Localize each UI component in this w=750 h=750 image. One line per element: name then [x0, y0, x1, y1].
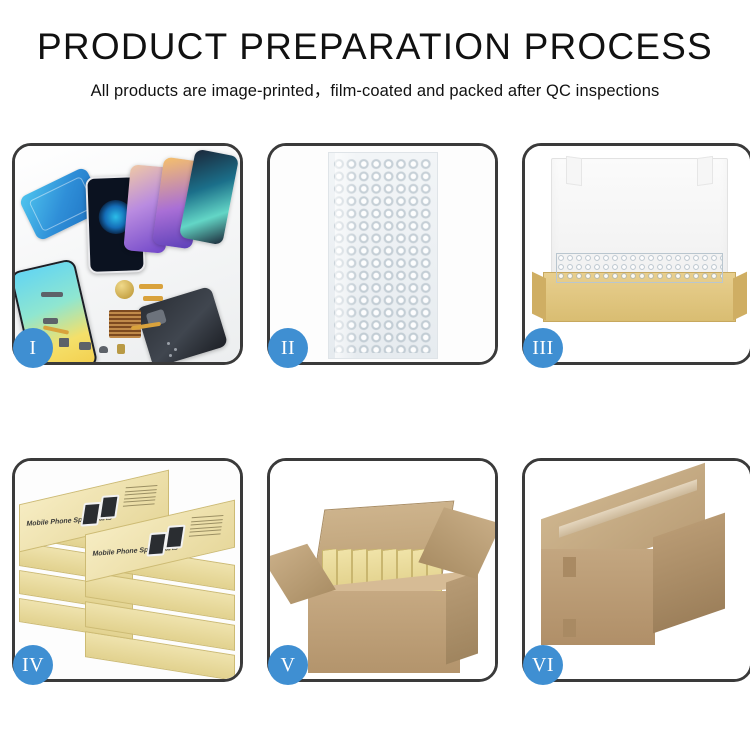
- part-strip-1: [41, 292, 63, 297]
- gold-coil-part-icon: [115, 280, 134, 299]
- box-tray: [543, 272, 736, 322]
- box-text-lines-b: [189, 515, 224, 539]
- step-badge-5: V: [268, 645, 308, 685]
- step-panel-1: I: [12, 143, 243, 365]
- bubble-wrap-image: [270, 146, 495, 362]
- step-badge-2: II: [268, 328, 308, 368]
- part-strip-2: [43, 318, 58, 324]
- open-shipping-carton-image: [270, 461, 495, 679]
- page-header: PRODUCT PREPARATION PROCESS All products…: [0, 0, 750, 101]
- carton-seam-tab-top: [563, 557, 576, 577]
- step-panel-3: III: [522, 143, 750, 365]
- screw-3: [169, 354, 172, 357]
- wrap-highlight: [335, 153, 357, 358]
- page-subtitle: All products are image-printed，film-coat…: [0, 77, 750, 101]
- screw-2: [174, 348, 177, 351]
- sealed-shipping-carton-image: [525, 461, 750, 679]
- part-speaker-icon: [99, 346, 108, 353]
- step-panel-5: V: [267, 458, 498, 682]
- phone-screens-and-spare-parts-image: [15, 146, 240, 362]
- box-phone-image-a2: [98, 495, 119, 520]
- step-panel-2: II: [267, 143, 498, 365]
- step-panel-4: Mobile Phone Spare Parts Mobile Phone Sp…: [12, 458, 243, 682]
- lid-tab-right: [697, 156, 713, 186]
- stacked-spare-parts-boxes-image: Mobile Phone Spare Parts Mobile Phone Sp…: [15, 461, 240, 679]
- screw-1: [167, 342, 170, 345]
- sealed-carton-front-face: [541, 549, 655, 645]
- carton-side-face: [446, 571, 478, 664]
- box-text-lines-a: [123, 485, 158, 509]
- process-steps-grid: I II III: [12, 143, 738, 682]
- step-badge-6: VI: [523, 645, 563, 685]
- page-title: PRODUCT PREPARATION PROCESS: [0, 28, 750, 67]
- part-camera-icon: [117, 344, 125, 354]
- step-badge-3: III: [523, 328, 563, 368]
- part-block-1: [59, 338, 69, 347]
- step-badge-1: I: [13, 328, 53, 368]
- step-badge-4: IV: [13, 645, 53, 685]
- flex-cable-2: [143, 296, 163, 301]
- spare-parts-cluster: [73, 284, 185, 362]
- tray-side-left: [532, 272, 546, 321]
- carton-front-face: [308, 591, 460, 673]
- circuit-board-part-icon: [109, 310, 141, 338]
- box-phone-image-b2: [164, 525, 185, 550]
- bubble-wrap-sheet: [328, 152, 438, 359]
- box-stack: Mobile Phone Spare Parts Mobile Phone Sp…: [19, 475, 239, 671]
- lid-tab-left: [566, 156, 582, 186]
- carton-seam-tab-bottom: [563, 619, 576, 637]
- bubble-wrapped-contents: [556, 253, 723, 283]
- step-panel-6: VI: [522, 458, 750, 682]
- part-block-2: [79, 342, 91, 350]
- flex-cable-1: [139, 284, 163, 289]
- open-inner-box-image: [525, 146, 750, 362]
- tray-side-right: [733, 272, 747, 321]
